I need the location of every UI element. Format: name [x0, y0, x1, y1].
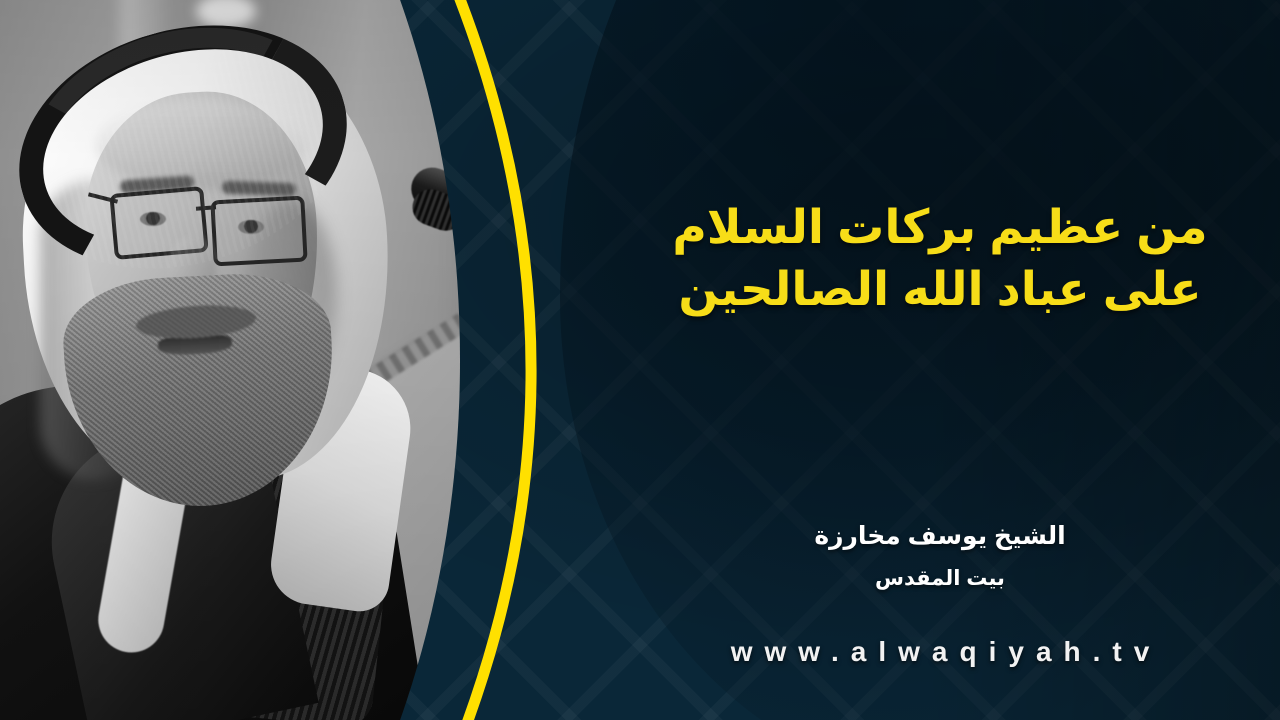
speaker-venue: بيت المقدس	[600, 566, 1280, 591]
lecture-title-card: من عظيم بركات السلام على عباد الله الصال…	[0, 0, 1280, 720]
lecture-title-line-2: على عباد الله الصالحين	[600, 258, 1280, 320]
website-url: www.alwaqiyah.tv	[600, 636, 1280, 668]
text-content-area: من عظيم بركات السلام على عباد الله الصال…	[600, 0, 1280, 720]
speaker-name: الشيخ يوسف مخارزة	[600, 524, 1280, 549]
lecture-title: من عظيم بركات السلام على عباد الله الصال…	[600, 196, 1280, 320]
lecture-title-line-1: من عظيم بركات السلام	[600, 196, 1280, 258]
